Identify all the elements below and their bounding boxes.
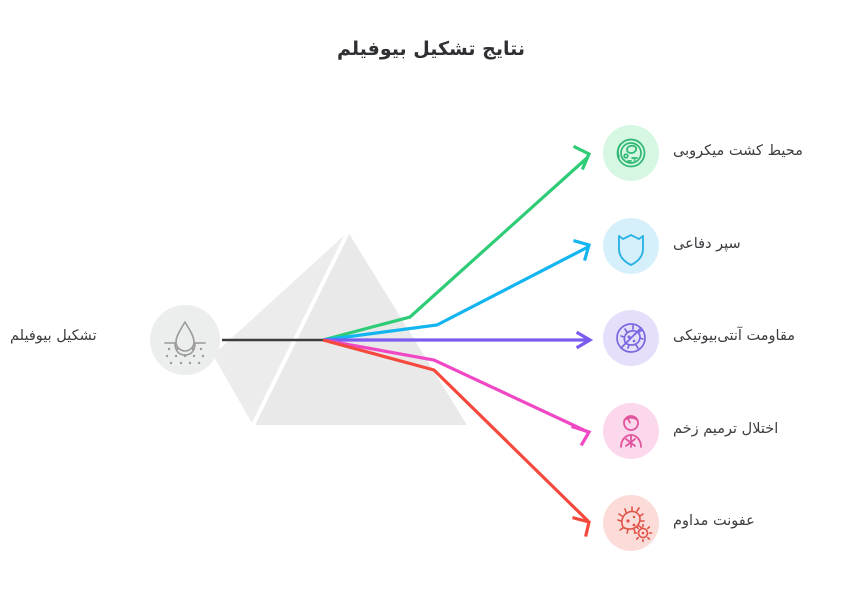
bandaged-patient-icon [603,403,659,459]
shield-icon [603,218,659,274]
outcome-bubble-microbial-culture [603,125,659,181]
arrowhead-persistent-infection [574,518,589,535]
outcome-label-microbial-culture: محیط کشت میکروبی [673,143,803,159]
source-node-label: تشکیل بیوفیلم [10,328,140,344]
arrowhead-wound-healing [573,427,589,444]
outcome-label-wound-healing: اختلال ترمیم زخم [673,421,778,437]
outcome-label-defensive-shield: سپر دفاعی [673,236,741,252]
germs-icon [603,495,659,551]
outcome-bubble-defensive-shield [603,218,659,274]
outcome-bubble-wound-healing [603,403,659,459]
petri-dish-icon [603,125,659,181]
prism-triangle [213,232,467,425]
source-node-circle [150,305,220,375]
no-bacteria-icon [603,310,659,366]
outcome-bubble-antibiotic-resistance [603,310,659,366]
outcome-label-antibiotic-resistance: مقاومت آنتی‌بیوتیکی [673,328,795,344]
outcome-label-persistent-infection: عفونت مداوم [673,513,755,529]
biofilm-droplet-skin-icon [150,305,220,375]
outcome-bubble-persistent-infection [603,495,659,551]
source-node-biofilm-formation[interactable] [150,305,220,375]
